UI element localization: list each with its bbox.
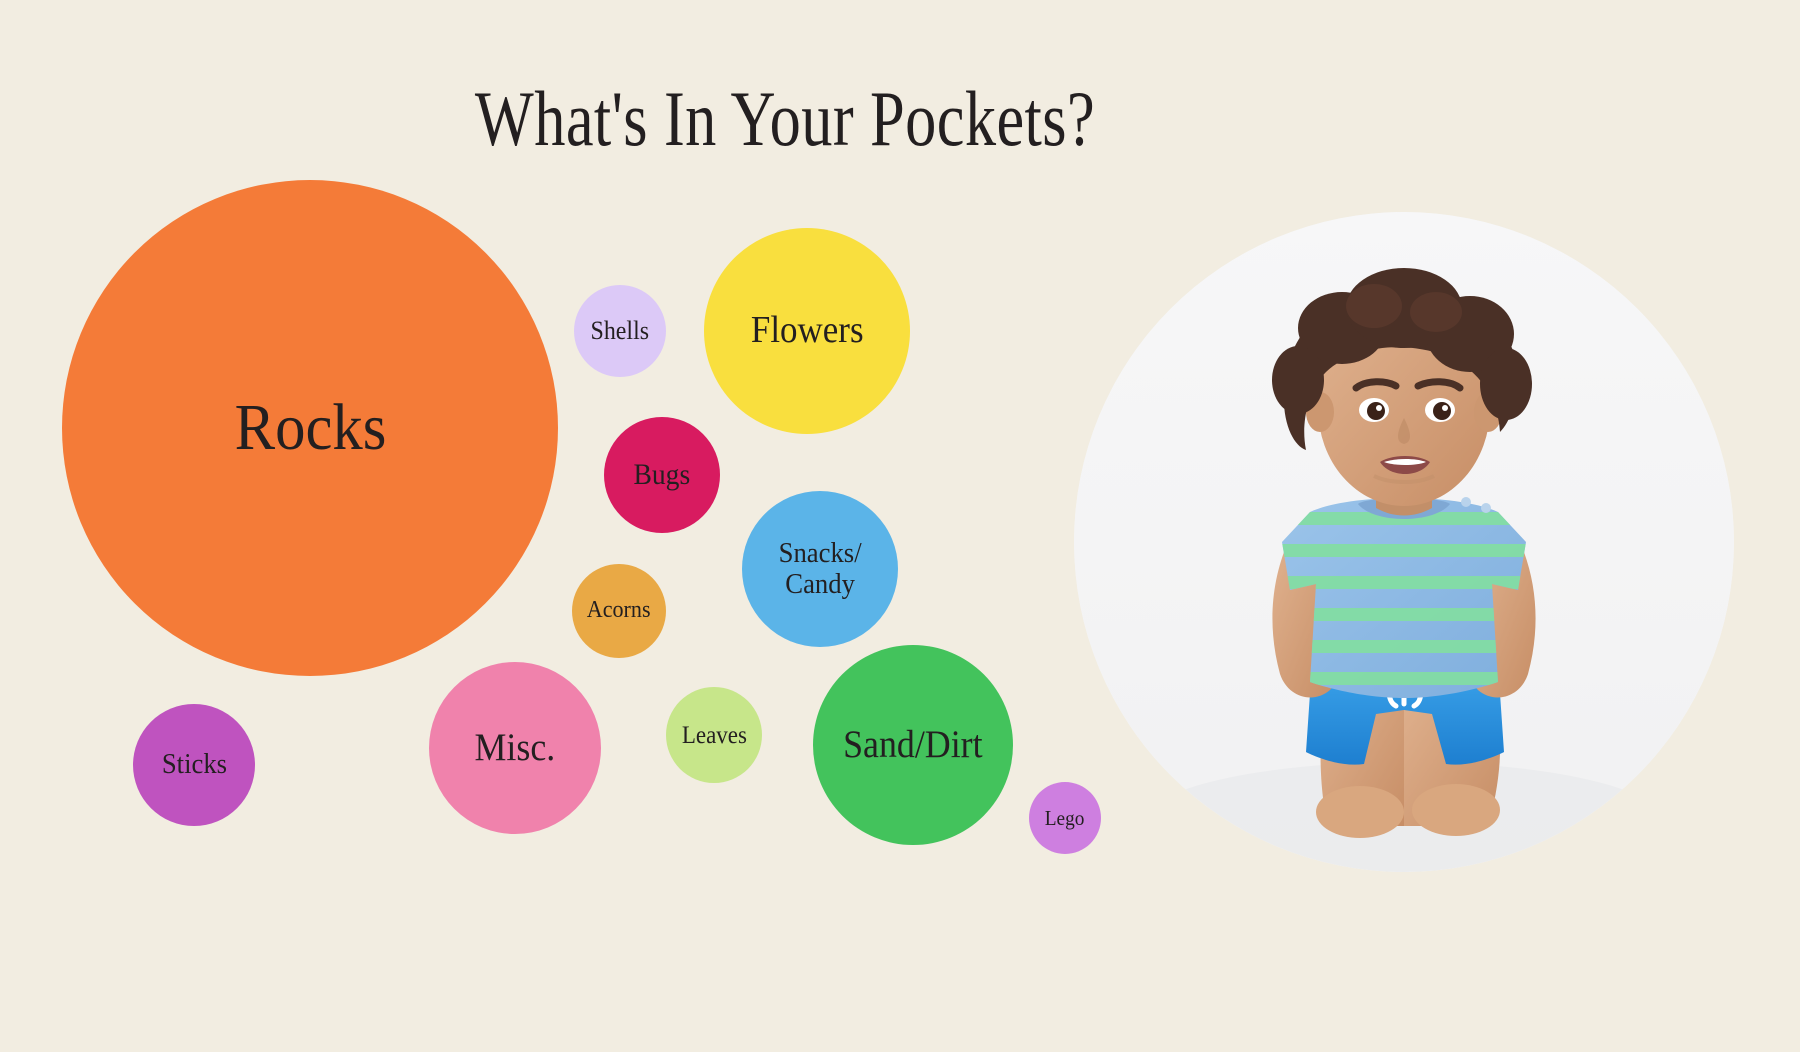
bubble-label: Rocks [232, 392, 387, 463]
bubble-lego[interactable]: Lego [1029, 782, 1101, 854]
bubble-bugs[interactable]: Bugs [604, 417, 720, 533]
bubble-sand-dirt[interactable]: Sand/Dirt [813, 645, 1013, 845]
bubble-label: Leaves [680, 722, 749, 749]
bubble-misc[interactable]: Misc. [429, 662, 601, 834]
page-title: What's In Your Pockets? [157, 78, 1413, 160]
bubble-flowers[interactable]: Flowers [704, 228, 910, 434]
bubble-acorns[interactable]: Acorns [572, 564, 666, 658]
bubble-label: Misc. [473, 727, 557, 769]
bubble-label: Bugs [632, 459, 692, 491]
bubble-rocks[interactable]: Rocks [62, 180, 558, 676]
bubble-label: Sand/Dirt [841, 724, 984, 766]
bubble-leaves[interactable]: Leaves [666, 687, 762, 783]
bubble-label: Lego [1043, 807, 1086, 830]
bubble-label: Flowers [749, 310, 865, 351]
bubble-snacks-candy[interactable]: Snacks/ Candy [742, 491, 898, 647]
bubble-label: Shells [589, 317, 651, 345]
child-photo-illustration [1074, 212, 1734, 872]
bubble-label: Sticks [160, 749, 229, 780]
bubble-sticks[interactable]: Sticks [133, 704, 255, 826]
infographic-canvas: What's In Your Pockets? [0, 0, 1800, 1052]
child-photo [1074, 212, 1734, 872]
bubble-label: Acorns [585, 598, 652, 624]
bubble-label: Snacks/ Candy [777, 538, 864, 601]
bubble-shells[interactable]: Shells [574, 285, 666, 377]
